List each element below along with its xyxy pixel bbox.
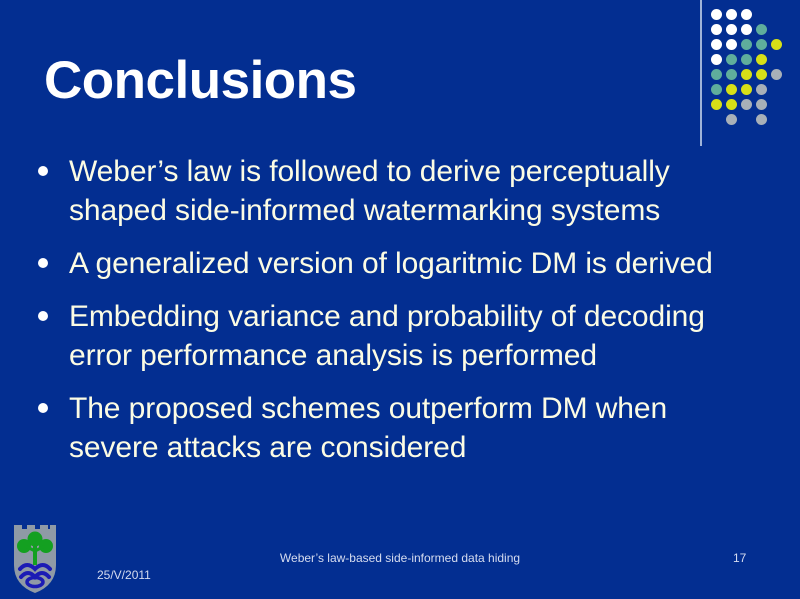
logo-dot-teal xyxy=(756,24,767,35)
logo-dot-teal xyxy=(726,69,737,80)
logo-dot-lime xyxy=(711,99,722,110)
logo-dot-white xyxy=(711,54,722,65)
footer-presentation-title: Weber’s law-based side-informed data hid… xyxy=(0,551,800,565)
bullet-item-text: Weber’s law is followed to derive percep… xyxy=(69,152,764,230)
bullet-point-icon xyxy=(38,403,48,413)
logo-dot-grey xyxy=(741,99,752,110)
logo-dot-lime xyxy=(726,84,737,95)
bullet-point-icon xyxy=(38,311,48,321)
bullet-item-text: The proposed schemes outperform DM when … xyxy=(69,389,764,467)
logo-dot-white xyxy=(711,24,722,35)
logo-dot-teal xyxy=(711,69,722,80)
dot-grid-logo xyxy=(711,9,797,139)
logo-dot-teal xyxy=(741,39,752,50)
logo-dot-teal xyxy=(726,54,737,65)
logo-dot-grey xyxy=(756,99,767,110)
logo-dot-lime xyxy=(756,54,767,65)
bullet-list: Weber’s law is followed to derive percep… xyxy=(38,152,764,481)
logo-dot-lime xyxy=(726,99,737,110)
logo-dot-teal xyxy=(741,54,752,65)
bullet-item: Weber’s law is followed to derive percep… xyxy=(38,152,764,230)
bullet-point-icon xyxy=(38,166,48,176)
logo-dot-grey xyxy=(756,114,767,125)
bullet-item-text: Embedding variance and probability of de… xyxy=(69,297,764,375)
bullet-point-icon xyxy=(38,258,48,268)
logo-divider-rule xyxy=(700,0,702,146)
footer-page-number: 17 xyxy=(733,551,746,565)
logo-dot-lime xyxy=(741,84,752,95)
logo-dot-white xyxy=(741,24,752,35)
logo-dot-lime xyxy=(756,69,767,80)
logo-dot-teal xyxy=(756,39,767,50)
logo-dot-teal xyxy=(711,84,722,95)
logo-dot-grey xyxy=(756,84,767,95)
logo-dot-white xyxy=(726,24,737,35)
presentation-slide: Conclusions Weber’s law is followed to d… xyxy=(0,0,800,599)
footer-date: 25/V/2011 xyxy=(97,568,151,582)
logo-dot-white xyxy=(726,9,737,20)
logo-dot-grey xyxy=(771,69,782,80)
slide-title: Conclusions xyxy=(44,53,357,109)
logo-dot-white xyxy=(711,9,722,20)
bullet-item: The proposed schemes outperform DM when … xyxy=(38,389,764,467)
logo-dot-white xyxy=(726,39,737,50)
bullet-item-text: A generalized version of logaritmic DM i… xyxy=(69,244,764,283)
logo-dot-white xyxy=(711,39,722,50)
logo-dot-white xyxy=(741,9,752,20)
logo-dot-lime xyxy=(741,69,752,80)
logo-dot-lime xyxy=(771,39,782,50)
logo-dot-grey xyxy=(726,114,737,125)
bullet-item: A generalized version of logaritmic DM i… xyxy=(38,244,764,283)
bullet-item: Embedding variance and probability of de… xyxy=(38,297,764,375)
